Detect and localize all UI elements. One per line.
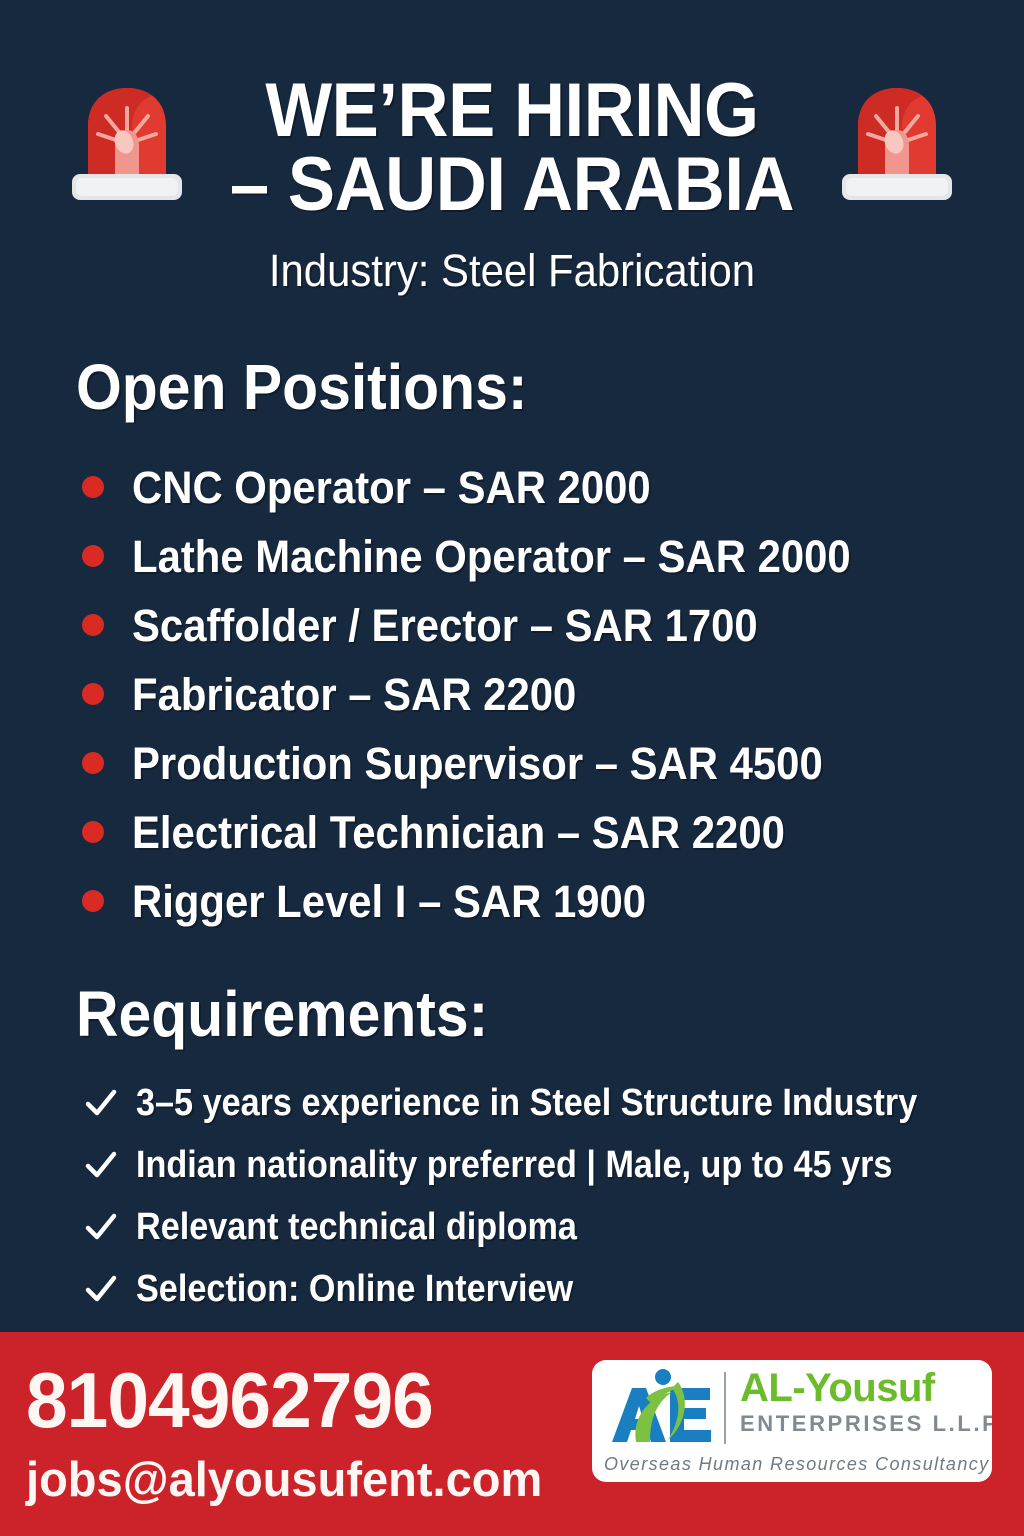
siren-icon — [832, 80, 962, 205]
logo-wordmark: AL-Yousuf ENTERPRISES L.L.P. — [740, 1368, 992, 1435]
contact-footer: 8104962796 jobs@alyousufent.com — [0, 1332, 1024, 1536]
list-item: 3–5 years experience in Steel Structure … — [84, 1072, 1024, 1134]
bullet-dot-icon — [82, 614, 104, 636]
company-logo-card: AL-Yousuf ENTERPRISES L.L.P. Overseas Hu… — [592, 1360, 992, 1482]
list-item: Indian nationality preferred | Male, up … — [84, 1134, 1024, 1196]
requirement-label: Selection: Online Interview — [136, 1270, 573, 1308]
logo-tagline: Overseas Human Resources Consultancy — [604, 1454, 990, 1475]
siren-icon — [62, 80, 192, 205]
requirements-section: Requirements: 3–5 years experience in St… — [0, 982, 1024, 1320]
poster-title-line-2: – SAUDI ARABIA — [213, 148, 812, 222]
requirement-label: 3–5 years experience in Steel Structure … — [136, 1084, 917, 1122]
list-item: Production Supervisor – SAR 4500 — [82, 729, 1024, 798]
open-positions-heading: Open Positions: — [76, 355, 948, 419]
position-label: Lathe Machine Operator – SAR 2000 — [132, 534, 851, 579]
list-item: Relevant technical diploma — [84, 1196, 1024, 1258]
requirements-heading: Requirements: — [76, 982, 948, 1046]
check-icon — [84, 1148, 118, 1182]
list-item: Lathe Machine Operator – SAR 2000 — [82, 522, 1024, 591]
bullet-dot-icon — [82, 821, 104, 843]
poster-title-line-1: WE’RE HIRING — [213, 74, 812, 148]
poster-subtitle: Industry: Steel Fabrication — [213, 245, 812, 297]
requirements-list: 3–5 years experience in Steel Structure … — [0, 1072, 1024, 1320]
position-label: Fabricator – SAR 2200 — [132, 672, 576, 717]
open-positions-list: CNC Operator – SAR 2000 Lathe Machine Op… — [0, 453, 1024, 936]
job-poster: WE’RE HIRING – SAUDI ARABIA Industry: St… — [0, 0, 1024, 1536]
bullet-dot-icon — [82, 476, 104, 498]
list-item: Selection: Online Interview — [84, 1258, 1024, 1320]
position-label: Production Supervisor – SAR 4500 — [132, 741, 823, 786]
list-item: CNC Operator – SAR 2000 — [82, 453, 1024, 522]
position-label: Electrical Technician – SAR 2200 — [132, 810, 785, 855]
list-item: Electrical Technician – SAR 2200 — [82, 798, 1024, 867]
bullet-dot-icon — [82, 683, 104, 705]
list-item: Rigger Level I – SAR 1900 — [82, 867, 1024, 936]
logo-company-name: AL-Yousuf — [740, 1368, 992, 1408]
contact-details: 8104962796 jobs@alyousufent.com — [26, 1363, 564, 1504]
list-item: Fabricator – SAR 2200 — [82, 660, 1024, 729]
list-item: Scaffolder / Erector – SAR 1700 — [82, 591, 1024, 660]
check-icon — [84, 1210, 118, 1244]
requirement-label: Indian nationality preferred | Male, up … — [136, 1146, 892, 1184]
position-label: Rigger Level I – SAR 1900 — [132, 879, 646, 924]
position-label: Scaffolder / Erector – SAR 1700 — [132, 603, 758, 648]
poster-header: WE’RE HIRING – SAUDI ARABIA Industry: St… — [0, 0, 1024, 297]
phone-number[interactable]: 8104962796 — [26, 1363, 542, 1437]
check-icon — [84, 1272, 118, 1306]
email-address[interactable]: jobs@alyousufent.com — [26, 1456, 542, 1505]
logo-company-type: ENTERPRISES L.L.P. — [740, 1413, 992, 1435]
check-icon — [84, 1086, 118, 1120]
logo-divider — [724, 1372, 726, 1444]
bullet-dot-icon — [82, 890, 104, 912]
position-label: CNC Operator – SAR 2000 — [132, 465, 651, 510]
ae-monogram-icon — [606, 1368, 714, 1450]
bullet-dot-icon — [82, 545, 104, 567]
bullet-dot-icon — [82, 752, 104, 774]
requirement-label: Relevant technical diploma — [136, 1208, 577, 1246]
